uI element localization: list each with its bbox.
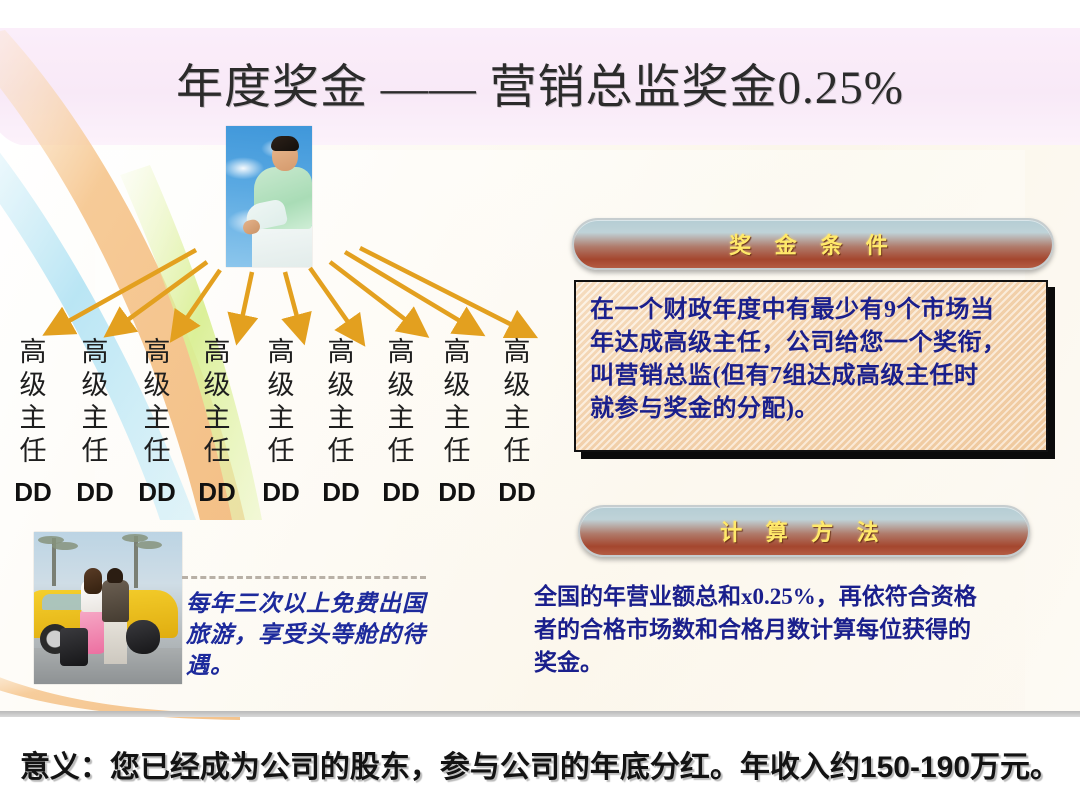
- col-char: 高: [378, 336, 424, 369]
- col-char: 级: [378, 369, 424, 402]
- subordinate-columns: 高 级 主 任 DD 高 级 主 任 DD 高 级 主 任 DD 高 级 主 任…: [0, 336, 580, 516]
- col-char: 主: [494, 402, 540, 435]
- col-char: 高: [10, 336, 56, 369]
- calculation-body: 全国的年营业额总和x0.25%，再依符合资格 者的合格市场数和合格月数计算每位获…: [534, 580, 1044, 679]
- suitcase: [60, 628, 88, 666]
- column-4: 高 级 主 任 DD: [258, 336, 304, 509]
- col-char: 级: [494, 369, 540, 402]
- col-char: 级: [194, 369, 240, 402]
- calculation-line-2: 奖金。: [534, 646, 1044, 679]
- col-code: DD: [10, 476, 56, 509]
- col-char: 高: [494, 336, 540, 369]
- col-char: 任: [318, 435, 364, 468]
- condition-line-2: 叫营销总监(但有7组达成高级主任时: [590, 360, 1032, 393]
- col-code: DD: [258, 476, 304, 509]
- col-char: 主: [194, 402, 240, 435]
- col-char: 级: [10, 369, 56, 402]
- col-char: 任: [134, 435, 180, 468]
- caption-divider: [182, 576, 426, 579]
- column-5: 高 级 主 任 DD: [318, 336, 364, 509]
- man-body: [102, 580, 129, 622]
- col-char: 任: [494, 435, 540, 468]
- col-char: 主: [134, 402, 180, 435]
- col-char: 级: [434, 369, 480, 402]
- column-2: 高 级 主 任 DD: [134, 336, 180, 509]
- col-code: DD: [134, 476, 180, 509]
- col-char: 高: [318, 336, 364, 369]
- arrows-group: [58, 248, 522, 332]
- bonus-condition-box: 在一个财政年度中有最少有9个市场当 年达成高级主任，公司给您一个奖衔， 叫营销总…: [574, 280, 1048, 452]
- column-8: 高 级 主 任 DD: [494, 336, 540, 509]
- man-hair: [107, 568, 123, 583]
- col-char: 任: [434, 435, 480, 468]
- col-char: 高: [134, 336, 180, 369]
- col-char: 主: [378, 402, 424, 435]
- col-char: 主: [318, 402, 364, 435]
- calculation-method-pill: 计 算 方 法: [578, 505, 1030, 557]
- col-char: 高: [258, 336, 304, 369]
- condition-line-1: 年达成高级主任，公司给您一个奖衔，: [590, 327, 1032, 360]
- col-char: 高: [194, 336, 240, 369]
- col-code: DD: [494, 476, 540, 509]
- col-char: 级: [134, 369, 180, 402]
- column-1: 高 级 主 任 DD: [72, 336, 118, 509]
- suitcase: [126, 620, 160, 654]
- col-char: 主: [72, 402, 118, 435]
- col-char: 级: [72, 369, 118, 402]
- travel-caption: 每年三次以上免费出国旅游，享受头等舱的待遇。: [186, 588, 446, 681]
- calculation-method-label: 计 算 方 法: [720, 515, 888, 547]
- col-code: DD: [72, 476, 118, 509]
- col-code: DD: [318, 476, 364, 509]
- col-char: 任: [378, 435, 424, 468]
- col-char: 主: [258, 402, 304, 435]
- col-char: 主: [434, 402, 480, 435]
- palm-frond: [136, 541, 162, 549]
- col-code: DD: [378, 476, 424, 509]
- col-char: 高: [434, 336, 480, 369]
- man-legs: [104, 620, 127, 664]
- column-3: 高 级 主 任 DD: [194, 336, 240, 509]
- woman-hair: [84, 568, 102, 594]
- col-char: 任: [10, 435, 56, 468]
- col-char: 任: [258, 435, 304, 468]
- condition-line-3: 就参与奖金的分配)。: [590, 393, 1032, 426]
- col-char: 任: [194, 435, 240, 468]
- column-6: 高 级 主 任 DD: [378, 336, 424, 509]
- condition-line-0: 在一个财政年度中有最少有9个市场当: [590, 294, 1032, 327]
- col-char: 级: [318, 369, 364, 402]
- col-char: 高: [72, 336, 118, 369]
- bottom-note: 意义：您已经成为公司的股东，参与公司的年底分红。年收入约150-190万元。: [0, 742, 1080, 786]
- column-7: 高 级 主 任 DD: [434, 336, 480, 509]
- calculation-line-1: 者的合格市场数和合格月数计算每位获得的: [534, 613, 1044, 646]
- slide-root: 年度奖金 —— 营销总监奖金0.25% 高: [0, 0, 1080, 810]
- col-char: 主: [10, 402, 56, 435]
- col-char: 任: [72, 435, 118, 468]
- column-0: 高 级 主 任 DD: [10, 336, 56, 509]
- bonus-condition-pill: 奖 金 条 件: [572, 218, 1054, 270]
- palm-frond: [52, 542, 78, 550]
- col-code: DD: [434, 476, 480, 509]
- calculation-line-0: 全国的年营业额总和x0.25%，再依符合资格: [534, 580, 1044, 613]
- col-char: 级: [258, 369, 304, 402]
- travel-photo: [34, 532, 182, 684]
- bonus-condition-label: 奖 金 条 件: [729, 228, 897, 260]
- col-code: DD: [194, 476, 240, 509]
